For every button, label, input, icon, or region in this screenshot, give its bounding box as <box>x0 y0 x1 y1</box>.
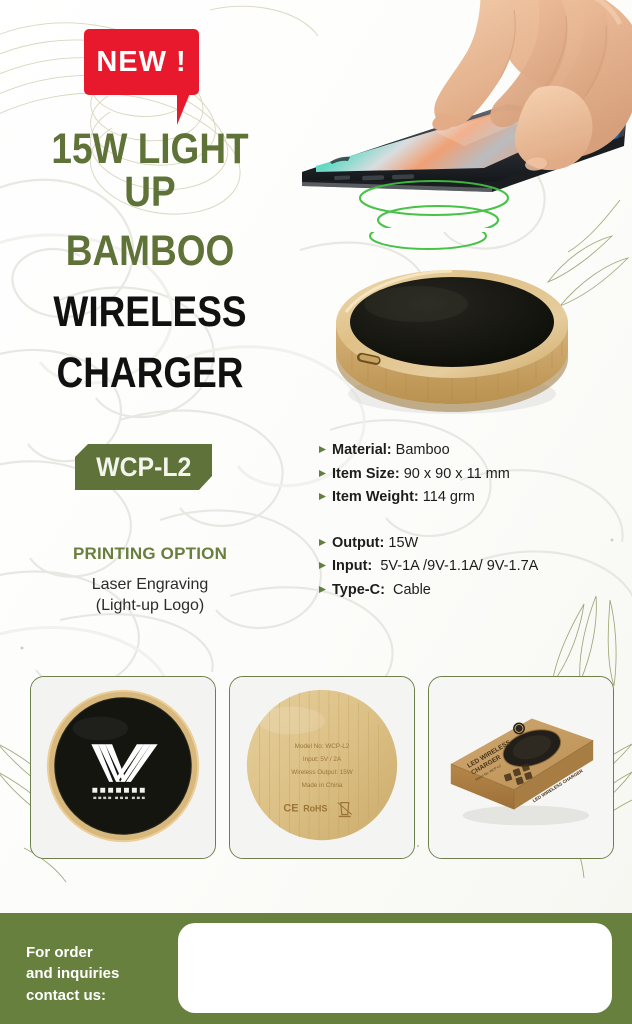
svg-text:CE: CE <box>283 803 298 815</box>
svg-text:Model No: WCP-L2: Model No: WCP-L2 <box>295 743 350 750</box>
contact-prompt-line-2: and inquiries <box>26 963 119 984</box>
product-gallery: COMPANY TAGLINE GOES HERE <box>0 676 632 862</box>
product-title: 15W LIGHT UP BAMBOO WIRELESS CHARGER <box>0 128 300 395</box>
svg-text:Wireless Output: 15W: Wireless Output: 15W <box>291 769 353 776</box>
new-badge-bubble: NEW ! <box>84 29 199 95</box>
printing-method: Laser Engraving <box>0 576 300 594</box>
spec-label: Material: <box>332 442 392 458</box>
spec-group-divider <box>318 511 618 533</box>
new-badge-label: NEW ! <box>96 46 186 79</box>
bamboo-wireless-charger-image <box>312 232 588 428</box>
bullet-arrow-icon <box>318 556 332 575</box>
spec-label: Input: <box>332 558 372 574</box>
spec-row: Output: 15W <box>318 533 618 554</box>
gallery-card-packaging: LED WIRELESS CHARGER Model No: WCP-L2 LE… <box>428 676 614 859</box>
spec-value: 15W <box>388 535 418 551</box>
bamboo-underside-image: Model No: WCP-L2 Input: 5V / 2A Wireless… <box>230 677 414 858</box>
gallery-card-underside: Model No: WCP-L2 Input: 5V / 2A Wireless… <box>229 676 415 859</box>
new-badge-tail <box>177 93 190 125</box>
title-line-2: BAMBOO <box>21 230 279 273</box>
spec-label: Type-C: <box>332 582 385 598</box>
model-code-label: WCP-L2 <box>96 452 191 483</box>
printing-option-heading: PRINTING OPTION <box>0 544 300 564</box>
contact-prompt: For order and inquiries contact us: <box>26 942 119 1006</box>
model-code-badge: WCP-L2 <box>75 444 212 490</box>
bullet-arrow-icon <box>318 487 332 506</box>
product-flyer: NEW ! <box>0 0 632 1024</box>
spec-row: Material: Bamboo <box>318 440 618 461</box>
bullet-arrow-icon <box>318 580 332 599</box>
printing-option-block: PRINTING OPTION Laser Engraving (Light-u… <box>0 544 300 615</box>
footer-contact-bar: For order and inquiries contact us: <box>0 913 632 1024</box>
spec-row: Type-C: Cable <box>318 580 618 601</box>
svg-text:RoHS: RoHS <box>303 804 327 814</box>
bullet-arrow-icon <box>318 440 332 459</box>
retail-box-image: LED WIRELESS CHARGER Model No: WCP-L2 LE… <box>429 677 613 858</box>
contact-details-field[interactable] <box>178 923 612 1013</box>
spec-value: 5V-1A /9V-1.1A/ 9V-1.7A <box>380 558 538 574</box>
gallery-card-lit-logo: COMPANY TAGLINE GOES HERE <box>30 676 216 859</box>
spec-value: 90 x 90 x 11 mm <box>404 466 510 482</box>
title-line-4: CHARGER <box>21 352 279 395</box>
spec-row: Input: 5V-1A /9V-1.1A/ 9V-1.7A <box>318 556 618 577</box>
contact-prompt-line-1: For order <box>26 942 119 963</box>
spec-value: Bamboo <box>396 442 450 458</box>
spec-value: Cable <box>393 582 431 598</box>
lit-logo-top-view-image <box>31 677 215 858</box>
spec-label: Output: <box>332 535 384 551</box>
bullet-arrow-icon <box>318 533 332 552</box>
spec-label: Item Size: <box>332 466 400 482</box>
title-line-1: 15W LIGHT UP <box>21 128 279 214</box>
contact-prompt-line-3: contact us: <box>26 985 119 1006</box>
bullet-arrow-icon <box>318 464 332 483</box>
new-badge: NEW ! <box>84 29 199 95</box>
hand-holding-phone-image <box>286 0 632 228</box>
spec-value: 114 grm <box>423 489 475 505</box>
svg-text:Input: 5V / 2A: Input: 5V / 2A <box>303 756 342 763</box>
spec-row: Item Weight: 114 grm <box>318 487 618 508</box>
spec-row: Item Size: 90 x 90 x 11 mm <box>318 464 618 485</box>
title-line-3: WIRELESS <box>21 291 279 334</box>
printing-note: (Light-up Logo) <box>0 597 300 615</box>
specifications-list: Material: Bamboo Item Size: 90 x 90 x 11… <box>318 440 618 603</box>
spec-label: Item Weight: <box>332 489 419 505</box>
svg-text:Made in China: Made in China <box>302 782 343 789</box>
